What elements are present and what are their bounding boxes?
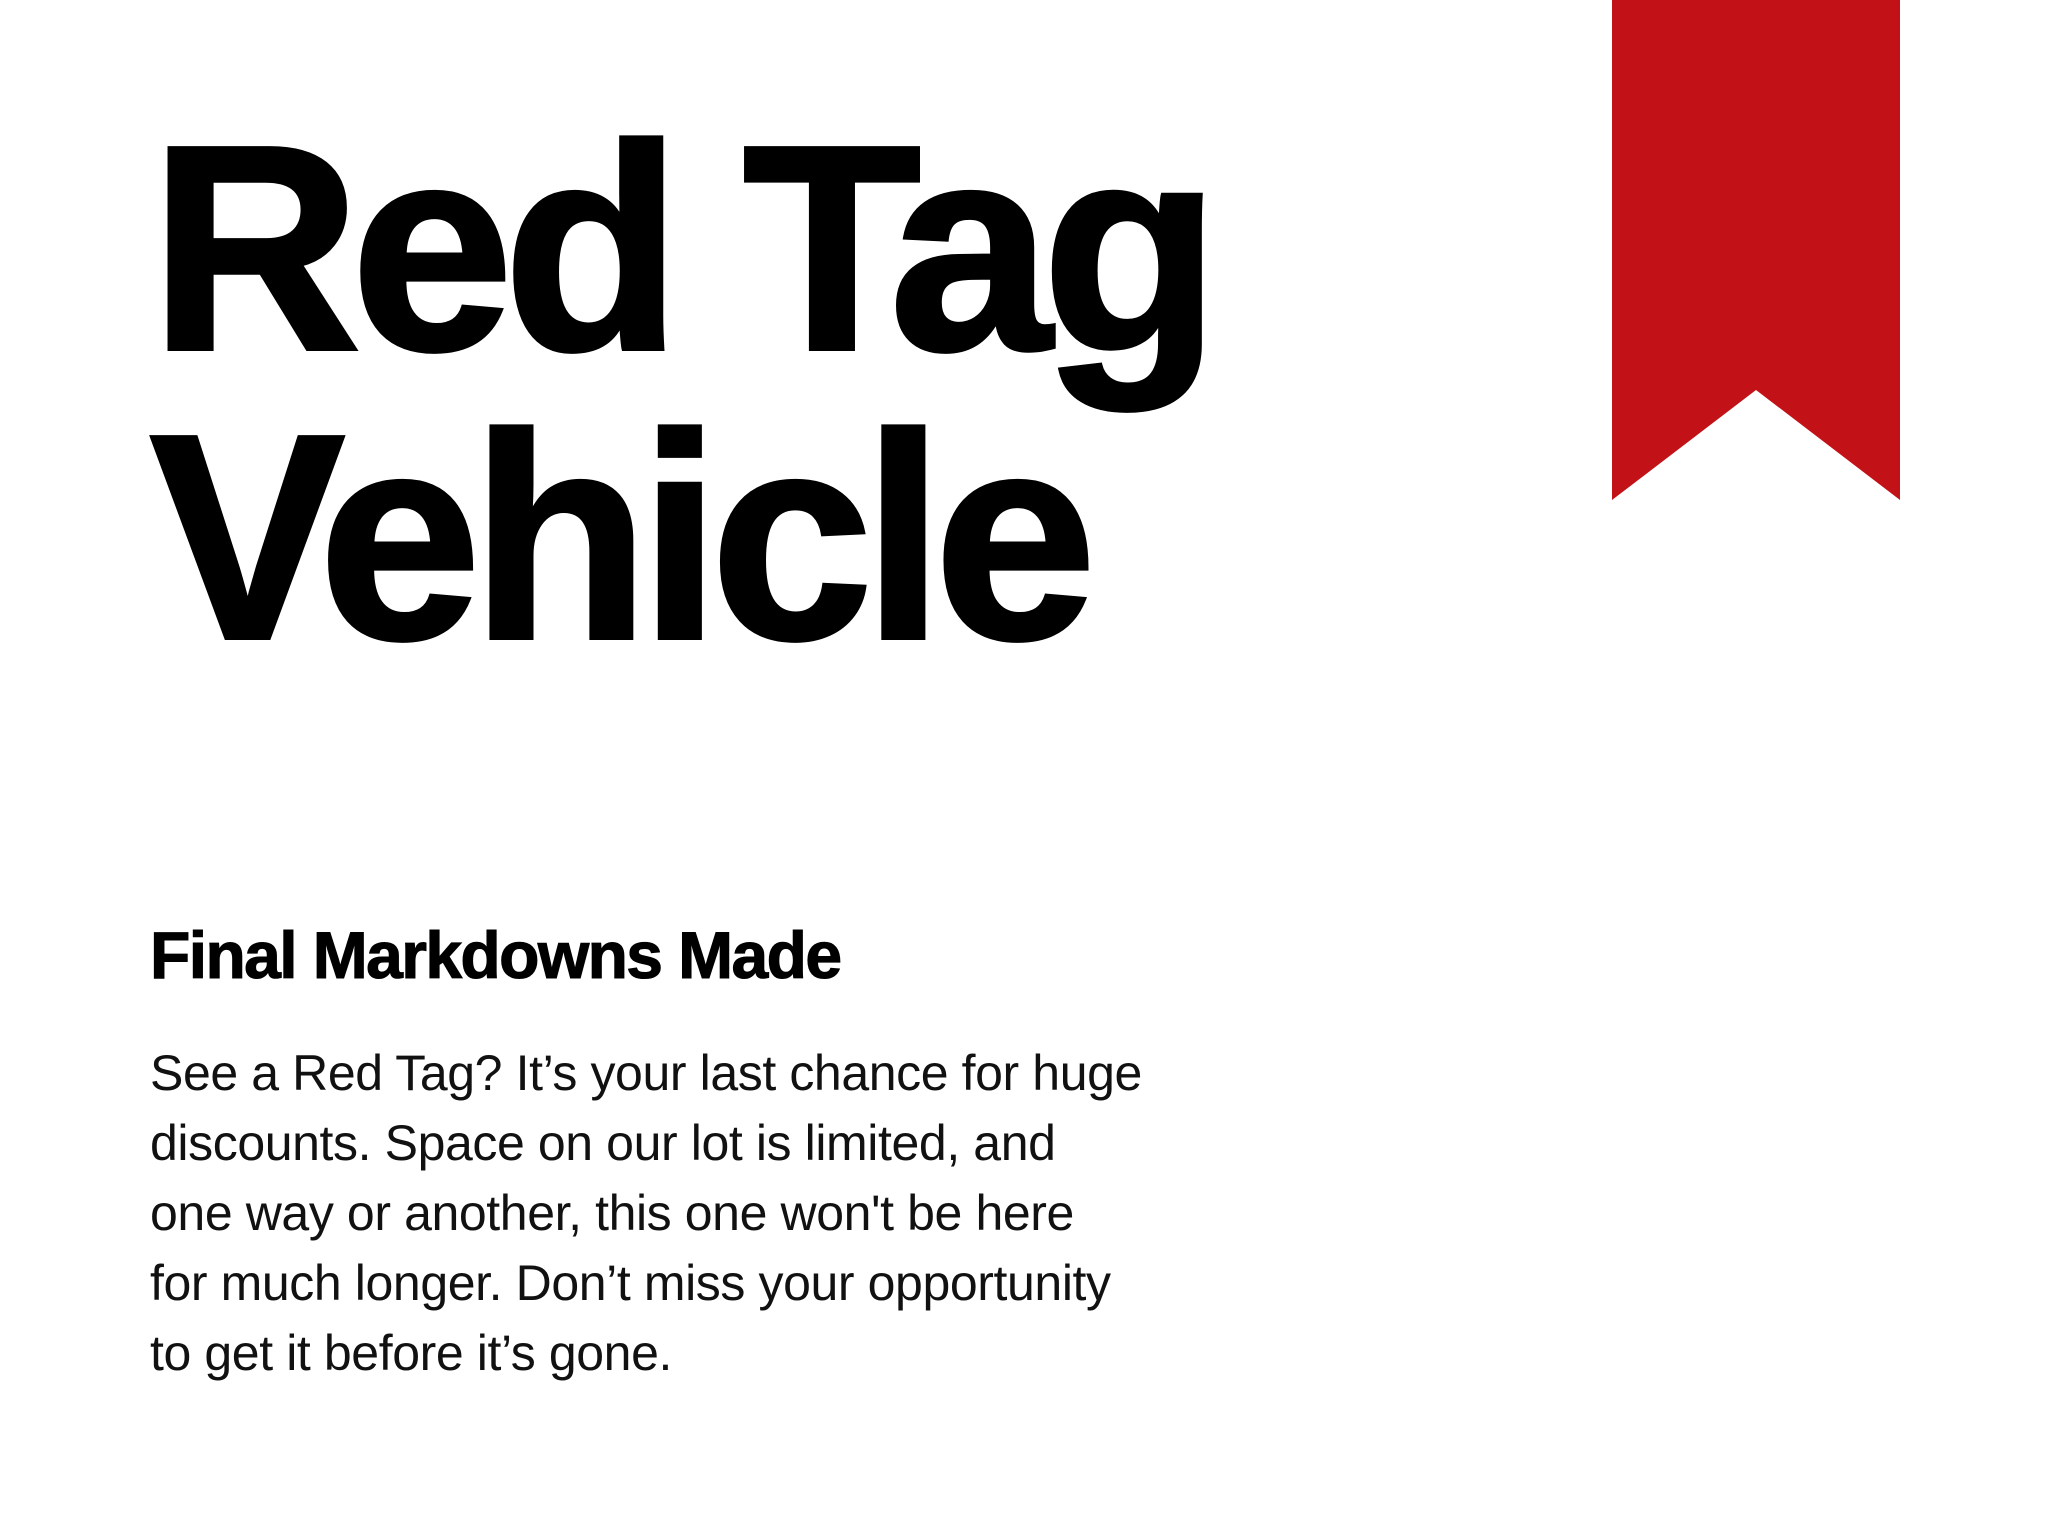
text-column: Red Tag Vehicle Final Markdowns Made See… (150, 0, 1270, 1536)
promo-subheading: Final Markdowns Made (150, 921, 1270, 990)
red-tag-ribbon-icon (1612, 0, 1900, 500)
promo-body-text: See a Red Tag? It’s your last chance for… (150, 1038, 1270, 1388)
red-tag-vehicle-slide: Red Tag Vehicle Final Markdowns Made See… (0, 0, 2048, 1536)
page-title: Red Tag Vehicle (150, 104, 1270, 682)
